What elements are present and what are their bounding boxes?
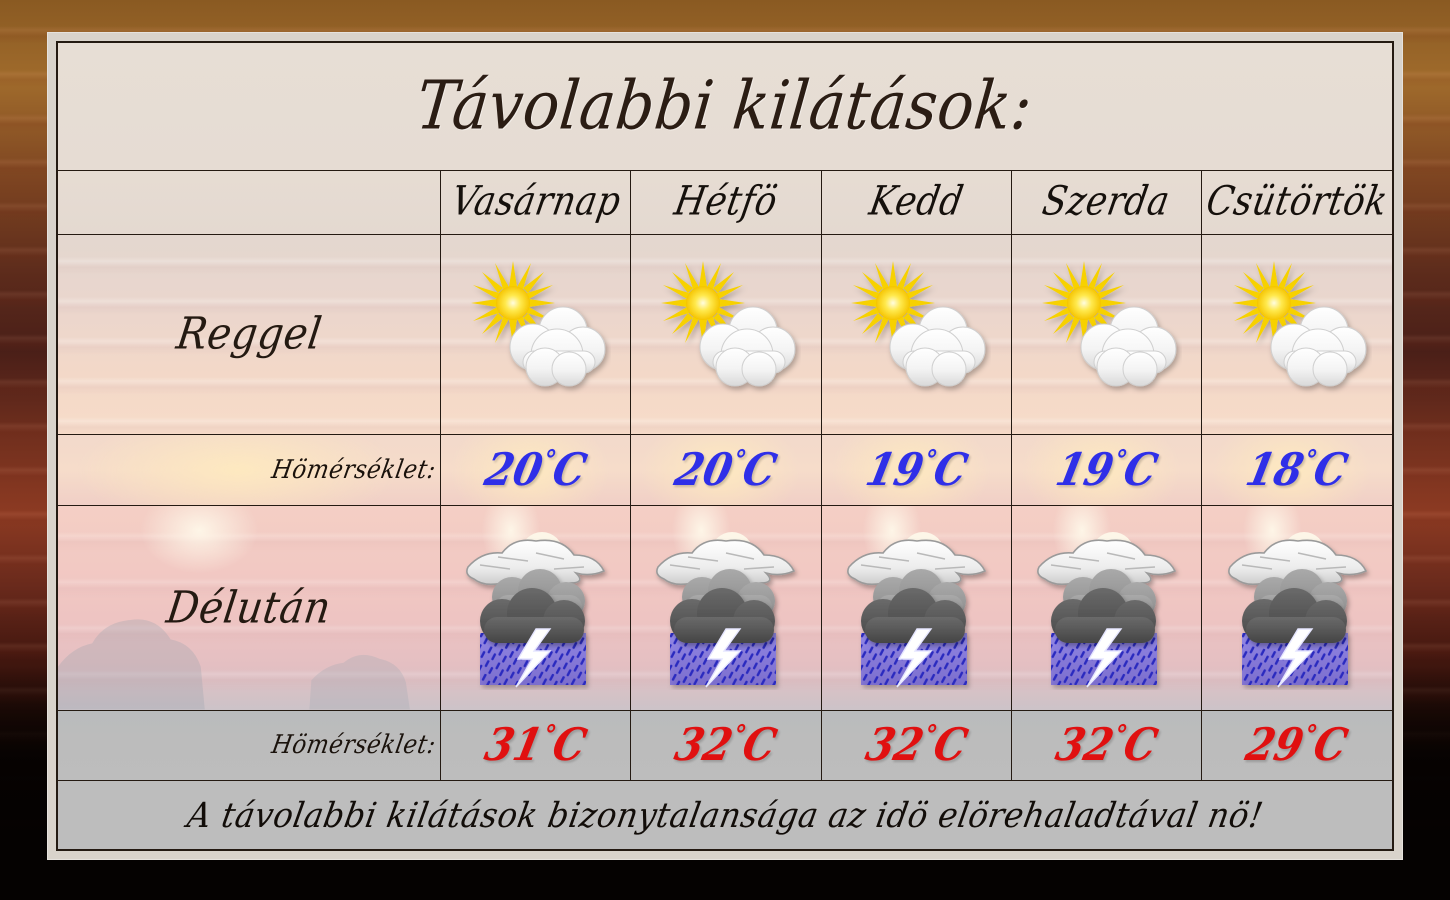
day-label-wednesday: Szerda — [1039, 179, 1173, 225]
day-label-thursday: Csütörtök — [1203, 179, 1391, 225]
afternoon-temp-label-cell: Hömérséklet: — [57, 710, 441, 780]
afternoon-icon-row: Délután — [57, 505, 1393, 710]
afternoon-temp-wednesday: 32°C — [1051, 718, 1162, 771]
morning-row-label-cell: Reggel — [57, 234, 441, 434]
afternoon-icon-cell — [631, 505, 821, 710]
day-header-cell: Szerda — [1011, 170, 1201, 234]
afternoon-temp-monday: 32°C — [671, 718, 782, 771]
temperature-label-afternoon: Hömérséklet: — [270, 730, 439, 759]
afternoon-temp-tuesday: 32°C — [861, 718, 972, 771]
afternoon-temp-thursday: 29°C — [1242, 718, 1353, 771]
afternoon-icon-cell — [441, 505, 631, 710]
morning-temp-wednesday: 19°C — [1051, 443, 1162, 496]
day-label-sunday: Vasárnap — [447, 179, 623, 225]
morning-temp-sunday: 20°C — [480, 443, 591, 496]
forecast-table: Távolabbi kilátások: Vasárnap Hétfö Kedd… — [56, 41, 1394, 851]
day-header-cell: Hétfö — [631, 170, 821, 234]
title-row: Távolabbi kilátások: — [57, 42, 1393, 170]
thunderstorm-icon — [822, 506, 1011, 710]
thunderstorm-icon — [631, 506, 820, 710]
afternoon-temp-sunday: 31°C — [480, 718, 591, 771]
forecast-panel-frame: Távolabbi kilátások: Vasárnap Hétfö Kedd… — [47, 32, 1403, 860]
morning-temp-cell: 19°C — [821, 434, 1011, 505]
footer-note-row: A távolabbi kilátások bizonytalansága az… — [57, 780, 1393, 850]
afternoon-icon-cell — [1202, 505, 1393, 710]
footer-note-cell: A távolabbi kilátások bizonytalansága az… — [57, 780, 1393, 850]
title-cell: Távolabbi kilátások: — [57, 42, 1393, 170]
afternoon-icon-cell — [1011, 505, 1201, 710]
morning-icon-cell — [631, 234, 821, 434]
afternoon-temp-cell: 32°C — [1011, 710, 1201, 780]
afternoon-temperature-row: Hömérséklet: 31°C 32°C 32°C 32°C 29°C — [57, 710, 1393, 780]
footer-note-text: A távolabbi kilátások bizonytalansága az… — [184, 794, 1266, 835]
morning-temp-cell: 20°C — [631, 434, 821, 505]
morning-icon-row: Reggel — [57, 234, 1393, 434]
day-header-cell: Kedd — [821, 170, 1011, 234]
morning-temp-cell: 18°C — [1202, 434, 1393, 505]
page-title: Távolabbi kilátások: — [414, 73, 1036, 140]
row-label-afternoon: Délután — [164, 582, 335, 633]
day-header-cell: Csütörtök — [1202, 170, 1393, 234]
morning-icon-cell — [441, 234, 631, 434]
sun-behind-cloud-icon — [822, 235, 1011, 434]
afternoon-row-label-cell: Délután — [57, 505, 441, 710]
temperature-label-morning: Hömérséklet: — [270, 455, 439, 484]
day-header-row: Vasárnap Hétfö Kedd Szerda Csütörtök — [57, 170, 1393, 234]
thunderstorm-icon — [441, 506, 630, 710]
morning-icon-cell — [821, 234, 1011, 434]
morning-icon-cell — [1202, 234, 1393, 434]
day-header-corner-cell — [57, 170, 441, 234]
day-header-cell: Vasárnap — [441, 170, 631, 234]
morning-temp-label-cell: Hömérséklet: — [57, 434, 441, 505]
afternoon-temp-cell: 29°C — [1202, 710, 1393, 780]
afternoon-icon-cell — [821, 505, 1011, 710]
day-label-monday: Hétfö — [671, 179, 781, 225]
morning-temperature-row: Hömérséklet: 20°C 20°C 19°C 19°C 18°C — [57, 434, 1393, 505]
afternoon-temp-cell: 31°C — [441, 710, 631, 780]
morning-temp-cell: 19°C — [1011, 434, 1201, 505]
sun-behind-cloud-icon — [1202, 235, 1392, 434]
afternoon-temp-cell: 32°C — [631, 710, 821, 780]
morning-temp-tuesday: 19°C — [861, 443, 972, 496]
thunderstorm-icon — [1012, 506, 1201, 710]
day-label-tuesday: Kedd — [866, 179, 967, 225]
thunderstorm-icon — [1202, 506, 1392, 710]
morning-icon-cell — [1011, 234, 1201, 434]
afternoon-temp-cell: 32°C — [821, 710, 1011, 780]
sun-behind-cloud-icon — [1012, 235, 1201, 434]
morning-temp-monday: 20°C — [671, 443, 782, 496]
sun-behind-cloud-icon — [441, 235, 630, 434]
morning-temp-cell: 20°C — [441, 434, 631, 505]
morning-temp-thursday: 18°C — [1242, 443, 1353, 496]
row-label-morning: Reggel — [173, 309, 325, 360]
sun-behind-cloud-icon — [631, 235, 820, 434]
